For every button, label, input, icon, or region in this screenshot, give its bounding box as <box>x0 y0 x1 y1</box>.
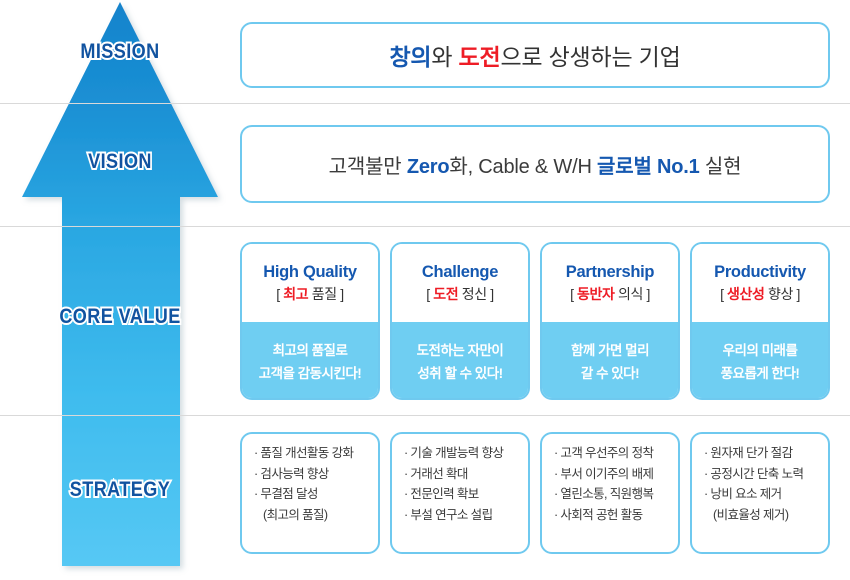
strategy-item: · 품질 개선활동 강화 <box>254 446 378 462</box>
core-value-slogan-line: 갈 수 있다! <box>581 362 639 382</box>
core-value-slogan-line: 최고의 품질로 <box>273 339 348 359</box>
core-value-subtitle: [ 최고 품질 ] <box>276 284 343 304</box>
core-value-slogan-line: 고객을 감동시킨다! <box>259 362 362 382</box>
core-value-keyword: 최고 <box>283 286 308 302</box>
vision-keyword-zero: Zero <box>407 156 450 178</box>
core-value-slogan: 최고의 품질로 고객을 감동시킨다! <box>242 322 378 398</box>
strategy-item: · 사회적 공헌 활동 <box>554 508 678 524</box>
band-label-vision: VISION <box>17 150 223 174</box>
band-label-mission: MISSION <box>17 40 223 64</box>
core-value-subtitle: [ 생산성 향상 ] <box>720 284 800 304</box>
strategy-item: · 검사능력 향상 <box>254 467 378 483</box>
core-value-header: High Quality [ 최고 품질 ] <box>242 244 378 322</box>
core-value-card-row: High Quality [ 최고 품질 ] 최고의 품질로 고객을 감동시킨다… <box>240 242 830 400</box>
core-value-slogan-line: 도전하는 자만이 <box>417 339 504 359</box>
strategy-item: · 전문인력 확보 <box>404 487 528 503</box>
core-value-header: Challenge [ 도전 정신 ] <box>392 244 528 322</box>
strategy-card: · 기술 개발능력 향상 · 거래선 확대 · 전문인력 확보 · 부설 연구소… <box>390 432 530 554</box>
core-value-slogan-line: 함께 가면 멀리 <box>571 339 649 359</box>
core-value-slogan-line: 우리의 미래를 <box>723 339 798 359</box>
core-value-subtitle-rest: 의식 ] <box>615 286 650 302</box>
strategy-item: · 원자재 단가 절감 <box>704 446 828 462</box>
core-value-subtitle: [ 동반자 의식 ] <box>570 284 650 304</box>
core-value-header: Productivity [ 생산성 향상 ] <box>692 244 828 322</box>
core-value-header: Partnership [ 동반자 의식 ] <box>542 244 678 322</box>
vision-text-3: 실현 <box>700 156 742 178</box>
mission-box: 창의와 도전으로 상생하는 기업 <box>240 22 830 88</box>
core-value-slogan: 함께 가면 멀리 갈 수 있다! <box>542 322 678 398</box>
core-value-slogan-line: 성취 할 수 있다! <box>417 362 502 382</box>
strategy-item: · 무결점 달성 <box>254 487 378 503</box>
bracket-open: [ <box>720 286 727 302</box>
vision-text-1: 고객불만 <box>329 156 407 178</box>
strategy-item: · 기술 개발능력 향상 <box>404 446 528 462</box>
divider-vision-core <box>0 226 850 227</box>
strategy-item: · 낭비 요소 제거 <box>704 487 828 503</box>
mission-statement: 창의와 도전으로 상생하는 기업 <box>389 38 680 72</box>
core-value-title: Partnership <box>566 263 654 282</box>
core-value-card: Challenge [ 도전 정신 ] 도전하는 자만이 성취 할 수 있다! <box>390 242 530 400</box>
core-value-slogan: 도전하는 자만이 성취 할 수 있다! <box>392 322 528 398</box>
strategy-card: · 고객 우선주의 정착 · 부서 이기주의 배제 · 열린소통, 직원행복 ·… <box>540 432 680 554</box>
mission-keyword-creativity: 창의 <box>389 44 431 70</box>
core-value-keyword: 생산성 <box>727 286 764 302</box>
vision-box: 고객불만 Zero화, Cable & W/H 글로벌 No.1 실현 <box>240 125 830 203</box>
core-value-card: Productivity [ 생산성 향상 ] 우리의 미래를 풍요롭게 한다! <box>690 242 830 400</box>
core-value-slogan-line: 풍요롭게 한다! <box>721 362 800 382</box>
bracket-open: [ <box>570 286 577 302</box>
core-value-keyword: 동반자 <box>577 286 614 302</box>
vision-statement: 고객불만 Zero화, Cable & W/H 글로벌 No.1 실현 <box>329 150 742 179</box>
strategy-card: · 품질 개선활동 강화 · 검사능력 향상 · 무결점 달성 (최고의 품질) <box>240 432 380 554</box>
core-value-title: Productivity <box>714 263 806 282</box>
strategy-item: · 공정시간 단축 노력 <box>704 467 828 483</box>
core-value-card: Partnership [ 동반자 의식 ] 함께 가면 멀리 갈 수 있다! <box>540 242 680 400</box>
core-value-card: High Quality [ 최고 품질 ] 최고의 품질로 고객을 감동시킨다… <box>240 242 380 400</box>
vision-text-2: 화, Cable & W/H <box>449 156 597 178</box>
divider-mission-vision <box>0 103 850 104</box>
band-label-core-value: CORE VALUE <box>17 305 223 329</box>
core-value-subtitle-rest: 정신 ] <box>458 286 493 302</box>
strategy-card-row: · 품질 개선활동 강화 · 검사능력 향상 · 무결점 달성 (최고의 품질)… <box>240 432 830 554</box>
strategy-item: (최고의 품질) <box>254 508 378 524</box>
core-value-title: Challenge <box>422 263 498 282</box>
core-value-subtitle-rest: 향상 ] <box>765 286 800 302</box>
mission-text-2: 으로 상생하는 기업 <box>500 44 680 70</box>
core-value-subtitle-rest: 품질 ] <box>308 286 343 302</box>
core-value-subtitle: [ 도전 정신 ] <box>426 284 493 304</box>
core-value-slogan: 우리의 미래를 풍요롭게 한다! <box>692 322 828 398</box>
strategy-item: (비효율성 제거) <box>704 508 828 524</box>
mission-keyword-challenge: 도전 <box>459 44 501 70</box>
divider-core-strategy <box>0 415 850 416</box>
strategy-item: · 부설 연구소 설립 <box>404 508 528 524</box>
core-value-keyword: 도전 <box>433 286 458 302</box>
core-value-title: High Quality <box>263 263 357 282</box>
strategy-item: · 거래선 확대 <box>404 467 528 483</box>
strategy-card: · 원자재 단가 절감 · 공정시간 단축 노력 · 낭비 요소 제거 (비효율… <box>690 432 830 554</box>
vision-strategy-diagram: MISSION VISION CORE VALUE STRATEGY 창의와 도… <box>0 0 850 580</box>
strategy-item: · 고객 우선주의 정착 <box>554 446 678 462</box>
vision-keyword-global-no1: 글로벌 No.1 <box>597 156 700 178</box>
strategy-item: · 열린소통, 직원행복 <box>554 487 678 503</box>
strategy-item: · 부서 이기주의 배제 <box>554 467 678 483</box>
mission-text-1: 와 <box>431 44 458 70</box>
band-label-strategy: STRATEGY <box>17 478 223 502</box>
